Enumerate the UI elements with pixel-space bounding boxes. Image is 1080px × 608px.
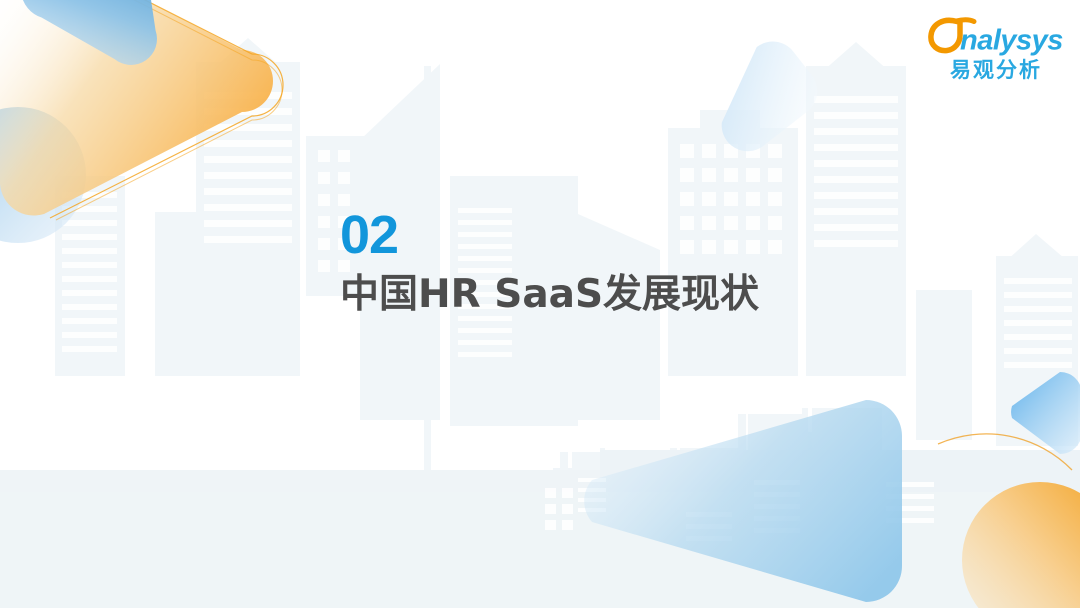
orange-outline-arc [50, 0, 283, 218]
blue-arrow-shape [9, 0, 202, 99]
analysys-logo: nalysys 易观分析 [928, 16, 1064, 82]
page-title: 中国HR SaaS发展现状 [340, 270, 940, 320]
section-title-block: 02 中国HR SaaS发展现状 [340, 206, 940, 320]
top-right-blue-shape [693, 31, 828, 162]
analysys-wordmark-icon: nalysys [928, 16, 1064, 56]
right-edge-blue-shape [1011, 372, 1080, 454]
orange-triangle [0, 0, 273, 216]
bottom-orange-circle [962, 482, 1080, 608]
svg-text:nalysys: nalysys [960, 25, 1063, 57]
section-number: 02 [340, 206, 940, 264]
left-blue-circle [0, 107, 86, 243]
orange-outline-arc-2 [56, 0, 282, 220]
analysys-logo-cn-text: 易观分析 [928, 57, 1064, 83]
bottom-blue-triangle [584, 400, 902, 602]
orange-arc-outline [938, 434, 1072, 470]
slide-root: nalysys 易观分析 02 中国HR SaaS发展现状 [0, 0, 1080, 608]
